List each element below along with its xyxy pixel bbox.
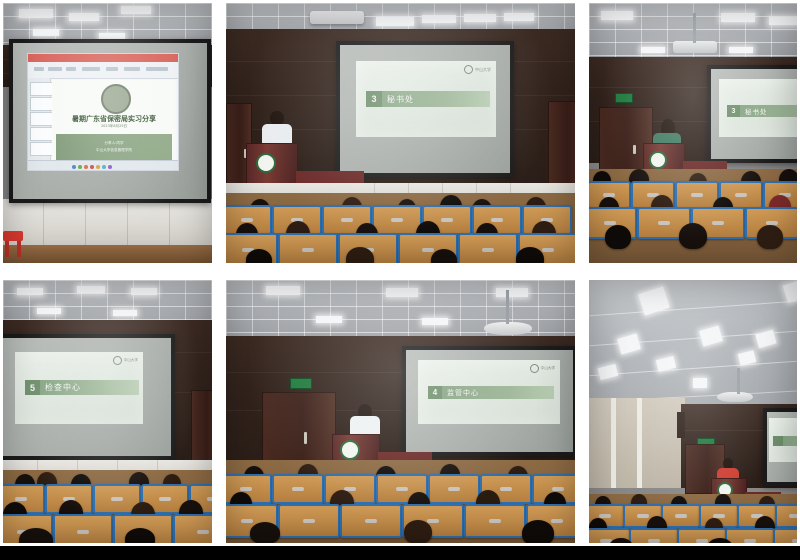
- audience-seating: [589, 169, 797, 263]
- projection-screen: 暑期广东省保密局实习分享 2023年8月25日 分享人:同学 中山大学信息管理学…: [9, 39, 211, 203]
- slide-section-title: 监管中心: [442, 386, 554, 399]
- slide-subtitle: 2023年8月25日: [52, 124, 176, 129]
- auditorium-seat: [464, 504, 526, 538]
- ceiling-light: [769, 17, 797, 25]
- projection-screen: 3 秘书处: [707, 65, 797, 163]
- ceiling-light: [113, 310, 137, 316]
- university-logo: 中山大学: [113, 356, 138, 365]
- speaker-head: [270, 111, 284, 125]
- panel-bottom-right: [586, 277, 800, 546]
- presentation-slide: 3 秘书处: [719, 79, 797, 137]
- audience-seating: [589, 494, 797, 543]
- projection-screen: 中山大学 4 监管中心: [402, 346, 575, 456]
- wall-speaker: [677, 412, 685, 438]
- presentation-slide: 中山大学 5 检查中心: [15, 352, 143, 424]
- ceiling-light: [131, 288, 157, 295]
- panel-top-left: 暑期广东省保密局实习分享 2023年8月25日 分享人:同学 中山大学信息管理学…: [0, 0, 215, 266]
- ceiling-light: [422, 318, 448, 325]
- presentation-slide: 中山大学 3 秘书处: [356, 61, 496, 137]
- slide-presenter-box: 分享人:同学 中山大学信息管理学院: [56, 134, 172, 160]
- slide-number: 3: [727, 105, 740, 117]
- panel-top-center: 中山大学 3 秘书处: [223, 0, 578, 266]
- slide-number: 3: [366, 91, 382, 107]
- ceiling-projector: [310, 11, 364, 24]
- ceiling-light: [504, 13, 534, 21]
- ceiling-light: [19, 9, 53, 18]
- ceiling-light: [641, 47, 665, 53]
- ceiling-light: [693, 378, 707, 388]
- ceiling-light: [721, 13, 755, 22]
- university-logo: 中山大学: [530, 364, 555, 373]
- red-stool: [3, 231, 23, 241]
- panel-top-right: 3 秘书处: [586, 0, 800, 266]
- auditorium-seat: [725, 528, 775, 543]
- ceiling-light: [316, 316, 342, 323]
- projection-screen: 中山大学 5 检查中心: [3, 334, 175, 460]
- slide-section-title: 秘书处: [740, 105, 797, 117]
- stool-leg: [17, 241, 21, 257]
- auditorium-seat: [661, 504, 701, 528]
- auditorium-seat: [53, 514, 113, 543]
- ceiling-light: [121, 6, 151, 14]
- projection-screen: [763, 408, 797, 486]
- presenter-line-1: 分享人:同学: [104, 141, 123, 146]
- slide-section-title: [783, 436, 797, 446]
- projector-mount: [506, 290, 509, 324]
- slide-number: 4: [428, 386, 442, 399]
- door[interactable]: [548, 101, 575, 189]
- ceiling-light: [17, 288, 43, 295]
- ceiling-light: [729, 47, 753, 53]
- slide-title: 暑期广东省保密局实习分享: [52, 114, 176, 124]
- auditorium-seat: [278, 233, 338, 263]
- presenter-line-2: 中山大学信息管理学院: [96, 148, 132, 153]
- audience-seating: [226, 193, 575, 263]
- podium-emblem: [340, 440, 360, 460]
- projector-mount: [693, 13, 696, 43]
- audience-seating: [226, 460, 575, 543]
- ceiling-light: [601, 11, 633, 20]
- auditorium-seat: [278, 504, 340, 538]
- auditorium-seat: [629, 528, 679, 543]
- ceiling-light: [422, 15, 456, 23]
- projector-mount: [737, 368, 740, 394]
- auditorium-seat: [372, 205, 422, 235]
- slide-section-title: 检查中心: [40, 380, 139, 395]
- door[interactable]: [262, 392, 336, 468]
- ceiling-light: [37, 308, 61, 314]
- podium-emblem: [256, 153, 276, 173]
- ceiling-projector: [717, 392, 753, 402]
- auditorium-seat: [773, 528, 797, 543]
- auditorium-seat: [775, 504, 797, 528]
- auditorium-seat: [173, 514, 212, 543]
- stool-leg: [5, 241, 9, 257]
- bottom-letterbox-bar: [0, 546, 800, 560]
- slide-number: 5: [25, 380, 40, 395]
- auditorium-seat: [272, 474, 324, 504]
- photo-collage: 暑期广东省保密局实习分享 2023年8月25日 分享人:同学 中山大学信息管理学…: [0, 0, 800, 560]
- presentation-slide: [769, 418, 797, 462]
- auditorium-seat: [340, 504, 402, 538]
- ceiling-light: [69, 13, 99, 21]
- slide-section-title: 秘书处: [382, 91, 490, 107]
- university-logo: 中山大学: [464, 65, 491, 74]
- ceiling-light: [386, 288, 418, 297]
- ceiling-light: [464, 14, 496, 22]
- ceiling-light: [266, 286, 300, 295]
- projection-screen: 中山大学 3 秘书处: [336, 41, 514, 177]
- auditorium-seat: [458, 233, 518, 263]
- exit-sign: [615, 93, 633, 103]
- exit-sign: [290, 378, 312, 389]
- organization-emblem: [101, 84, 131, 114]
- ceiling-light: [376, 17, 414, 26]
- slide-number: [773, 436, 783, 446]
- ceiling-light: [33, 29, 59, 36]
- door[interactable]: [191, 390, 212, 468]
- ceiling-light: [77, 286, 105, 293]
- presentation-slide: 中山大学 4 监管中心: [418, 360, 560, 424]
- panel-bottom-left: 中山大学 5 检查中心: [0, 277, 215, 546]
- powerpoint-window: 暑期广东省保密局实习分享 2023年8月25日 分享人:同学 中山大学信息管理学…: [27, 53, 179, 171]
- auditorium-seat: [428, 474, 480, 504]
- audience-seating: [3, 470, 212, 543]
- panel-bottom-center: 中山大学 4 监管中心: [223, 277, 578, 546]
- podium-emblem: [649, 151, 667, 169]
- ceiling-light: [496, 288, 528, 297]
